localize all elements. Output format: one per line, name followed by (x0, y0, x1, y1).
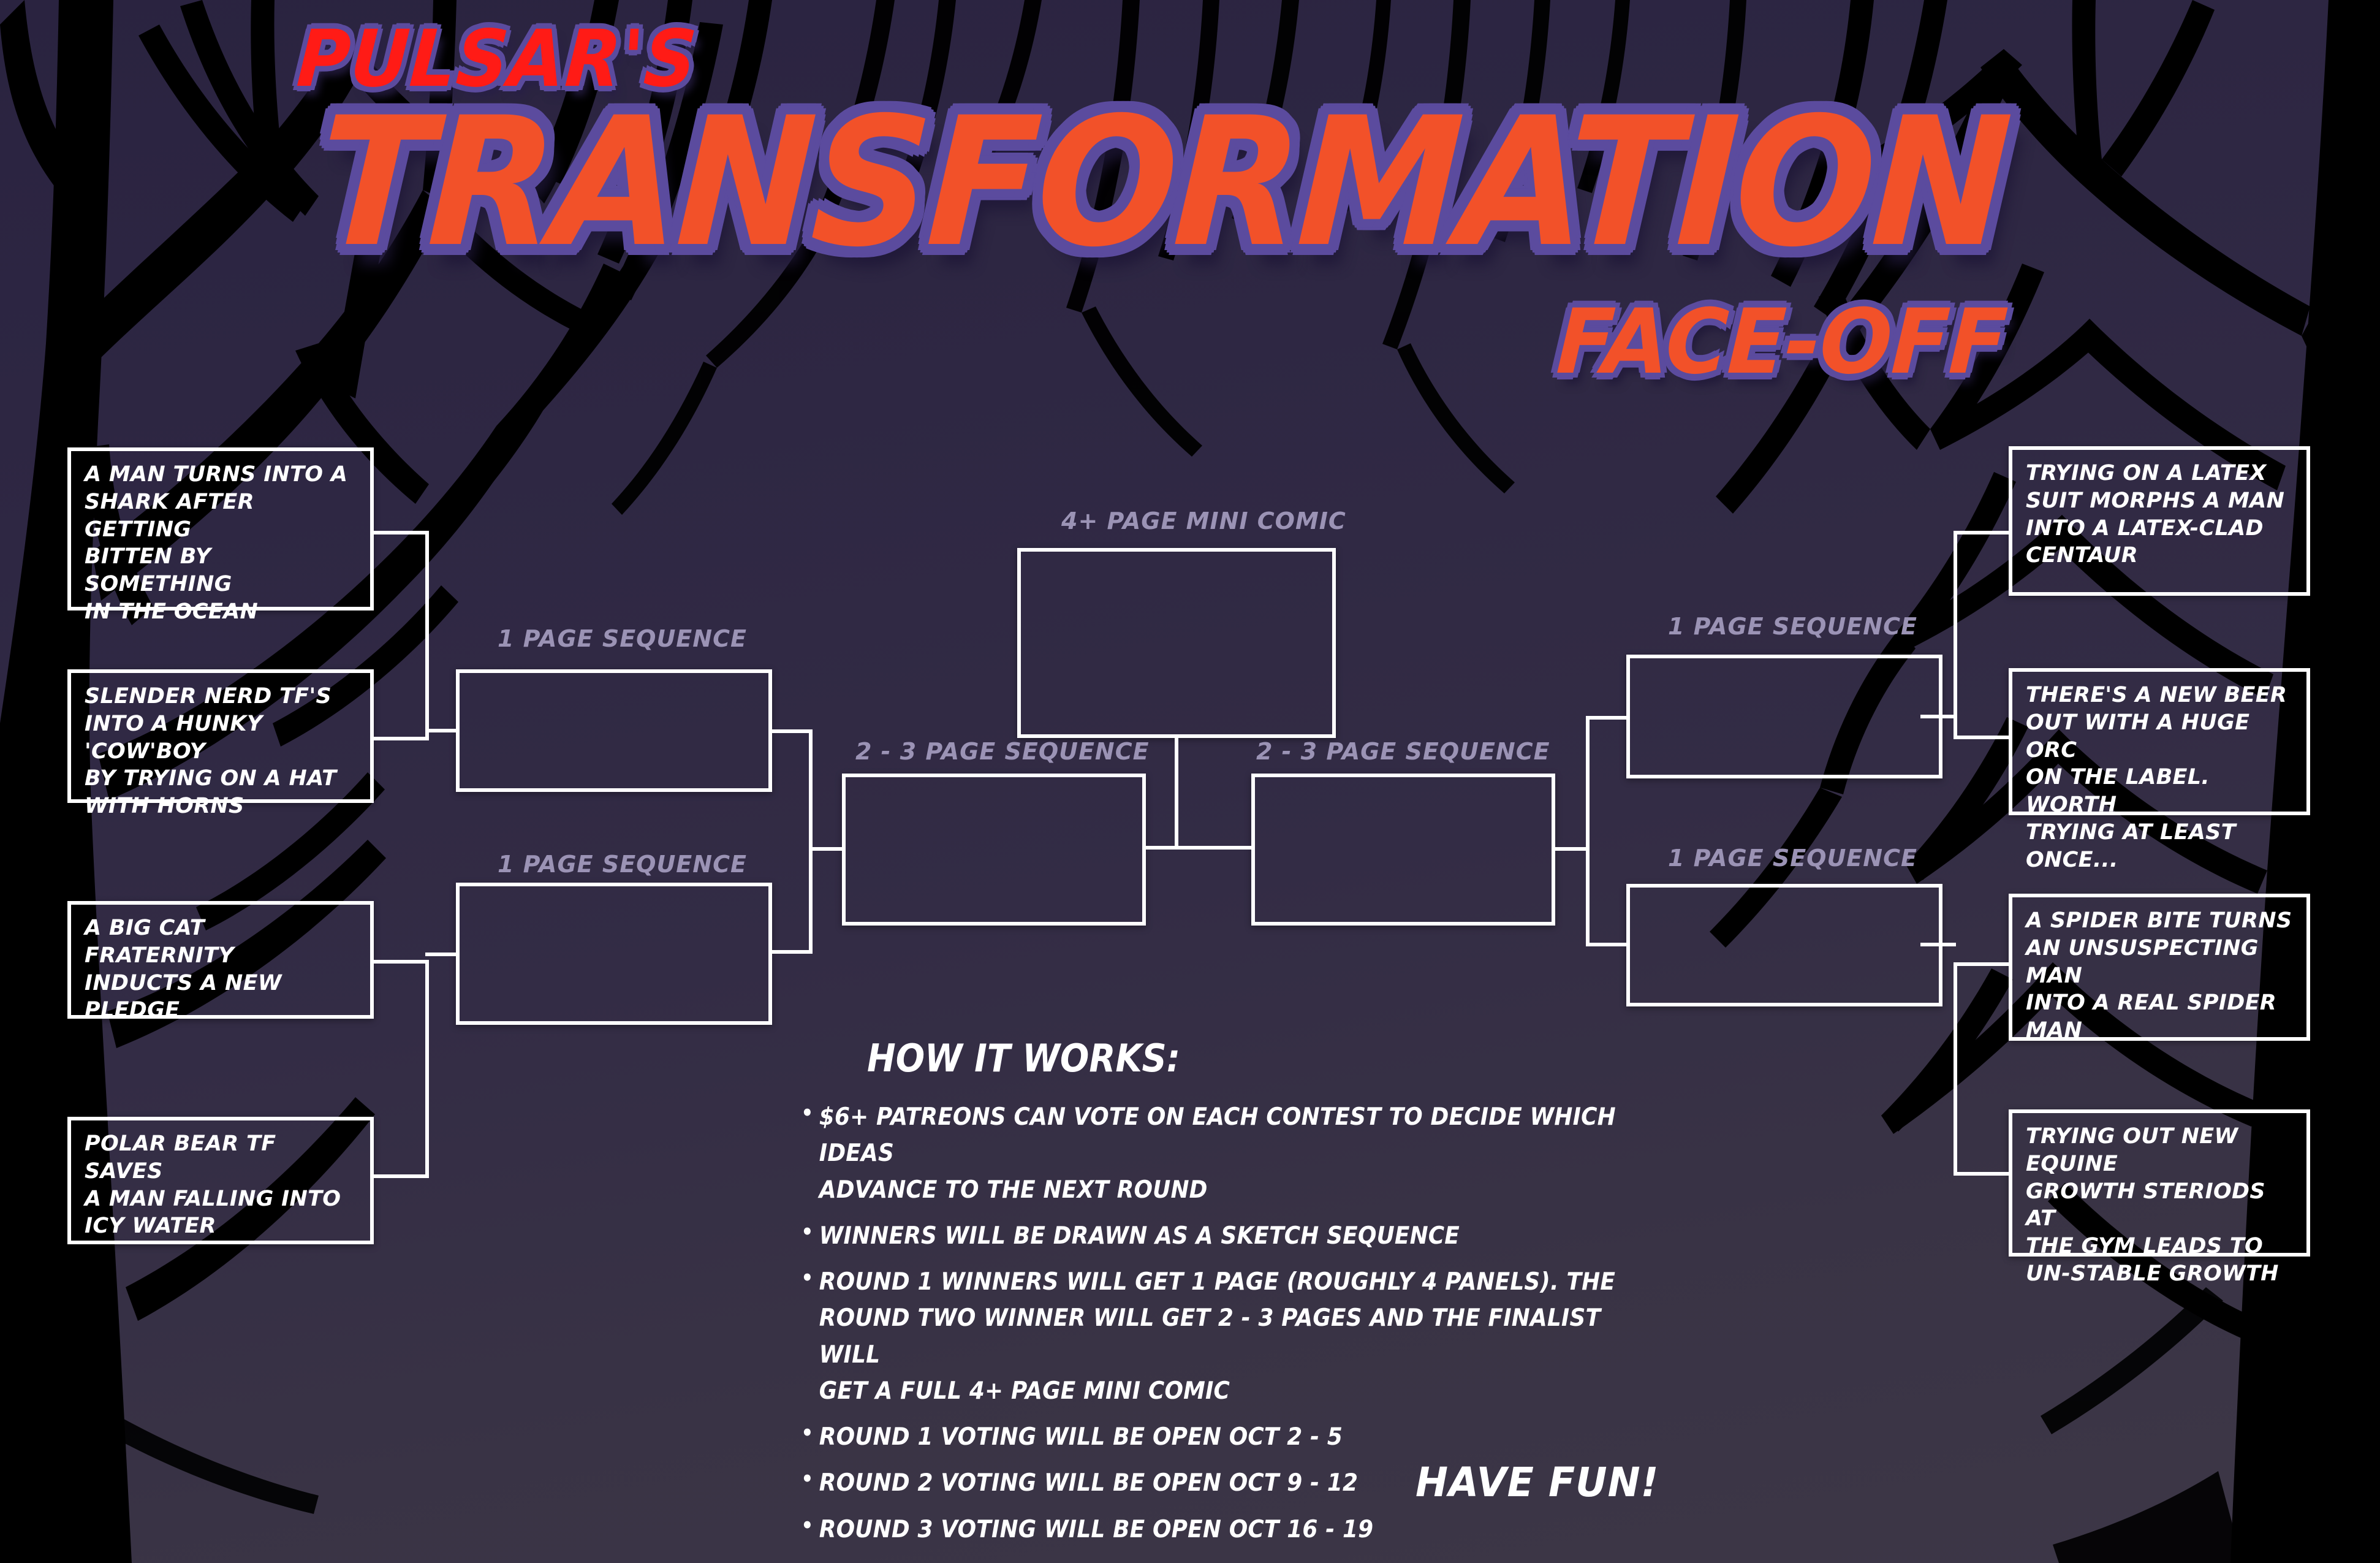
bracket-entry-left-2[interactable]: SLENDER NERD TF'S INTO A HUNKY 'COW'BOY … (67, 669, 374, 803)
round-label-right-bottom: 1 PAGE SEQUENCE (1668, 845, 1917, 872)
poster-canvas: PULSAR'S TRANSFORMATION FACE-OFF A MAN T… (0, 0, 2380, 1563)
how-it-works-bullet-1: $6+ PATREONS CAN VOTE ON EACH CONTEST TO… (797, 1099, 1642, 1208)
connector-left-e3-h (374, 960, 429, 964)
bracket-slot-round3-right[interactable] (1251, 774, 1555, 926)
bracket-slot-round2-right-bottom[interactable] (1626, 884, 1942, 1006)
round-label-left-top: 1 PAGE SEQUENCE (498, 625, 747, 652)
connector-final-right-h (1175, 846, 1254, 850)
bracket-entry-right-2[interactable]: THERE'S A NEW BEER OUT WITH A HUGE ORC O… (2009, 668, 2310, 815)
round-label-final: 4+ PAGE MINI COMIC (1061, 508, 1346, 534)
how-it-works-bullet-6: ROUND 3 VOTING WILL BE OPEN OCT 16 - 19 (797, 1512, 1642, 1548)
connector-right-e1-v (1954, 531, 1957, 739)
connector-left-e3-v (425, 960, 429, 1178)
connector-right-e2-h (1954, 736, 2010, 739)
connector-left-r3-in (809, 847, 844, 851)
connector-right-e1-h (1954, 531, 2010, 534)
bracket-entry-right-1[interactable]: TRYING ON A LATEX SUIT MORPHS A MAN INTO… (2009, 446, 2310, 596)
how-it-works-heading: HOW IT WORKS: (867, 1036, 1180, 1081)
how-it-works-bullet-4: ROUND 1 VOTING WILL BE OPEN OCT 2 - 5 (797, 1419, 1642, 1455)
connector-left-e4-h (374, 1174, 429, 1178)
bracket-entry-right-3[interactable]: A SPIDER BITE TURNS AN UNSUSPECTING MAN … (2009, 894, 2310, 1041)
connector-left-e1-h (374, 531, 429, 534)
connector-right-e4-h (1954, 1172, 2010, 1176)
round-label-semifinal-left: 2 - 3 PAGE SEQUENCE (855, 738, 1150, 765)
connector-final-left-h (1143, 846, 1175, 850)
bracket-entry-right-4[interactable]: TRYING OUT NEW EQUINE GROWTH STERIODS AT… (2009, 1109, 2310, 1257)
connector-right-r2bot-out (1586, 943, 1628, 946)
connector-right-r2top-out (1586, 716, 1628, 720)
bracket-entry-left-1[interactable]: A MAN TURNS INTO A SHARK AFTER GETTING B… (67, 447, 374, 610)
connector-right-r2top-in (1920, 715, 1956, 718)
connector-left-e1-v (425, 531, 429, 740)
have-fun-text: HAVE FUN! (1415, 1459, 1659, 1506)
connector-right-e3-v (1954, 962, 1957, 1176)
connector-left-r2top-in (425, 729, 460, 732)
bracket-slot-final[interactable] (1017, 548, 1336, 738)
how-it-works-bullet-3: ROUND 1 WINNERS WILL GET 1 PAGE (ROUGHLY… (797, 1264, 1642, 1409)
connector-left-e2-h (374, 737, 429, 740)
connector-left-r2bot-in (425, 953, 460, 956)
bracket-entry-left-3[interactable]: A BIG CAT FRATERNITY INDUCTS A NEW PLEDG… (67, 901, 374, 1019)
connector-right-r3-in (1553, 847, 1588, 851)
connector-left-r2-v (809, 729, 813, 954)
round-label-semifinal-right: 2 - 3 PAGE SEQUENCE (1256, 738, 1550, 765)
connector-final-vertical (1175, 734, 1178, 848)
round-label-right-top: 1 PAGE SEQUENCE (1668, 613, 1917, 640)
connector-right-e3-h (1954, 962, 2010, 966)
bracket-entry-left-4[interactable]: POLAR BEAR TF SAVES A MAN FALLING INTO I… (67, 1117, 374, 1244)
connector-left-r2top-out (772, 729, 813, 733)
bracket-slot-round3-left[interactable] (842, 774, 1146, 926)
connector-right-r2-v (1586, 716, 1590, 946)
bracket-slot-round2-left-bottom[interactable] (456, 883, 772, 1025)
bracket-slot-round2-left-top[interactable] (456, 669, 772, 792)
bracket-slot-round2-right-top[interactable] (1626, 655, 1942, 778)
connector-left-r2bot-out (772, 950, 813, 954)
connector-right-r2bot-in (1920, 943, 1956, 946)
how-it-works-bullet-2: WINNERS WILL BE DRAWN AS A SKETCH SEQUEN… (797, 1218, 1642, 1254)
round-label-left-bottom: 1 PAGE SEQUENCE (498, 851, 747, 878)
